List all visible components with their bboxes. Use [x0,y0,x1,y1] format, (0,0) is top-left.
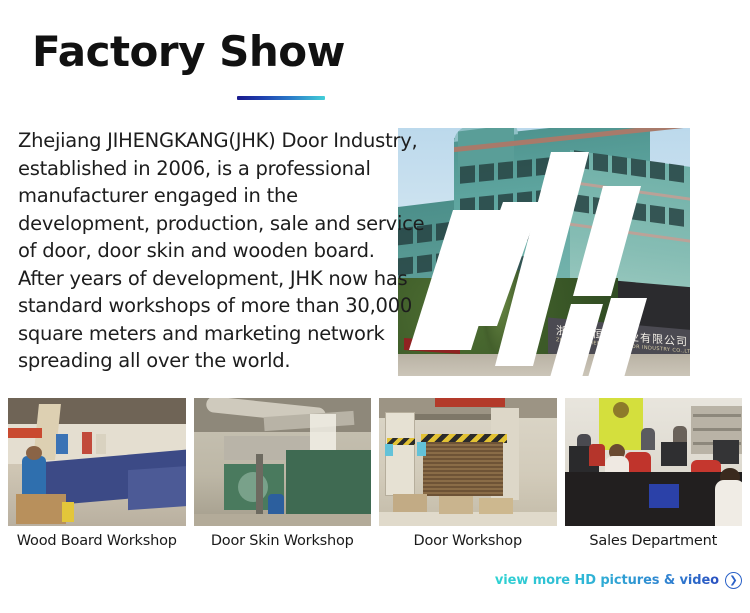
gallery-caption: Sales Department [565,533,743,549]
sales-department-image[interactable] [565,398,743,526]
factory-building-photo: 浙江基恒康门业有限公司 ZHEJIANG JIHENGKANG DOOR IND… [398,128,690,376]
gallery-item[interactable]: Door Skin Workshop [194,398,372,549]
title-underline-rule [237,96,325,100]
gallery-item[interactable]: Wood Board Workshop [8,398,186,549]
gallery-caption: Door Workshop [379,533,557,549]
door-skin-workshop-image[interactable] [194,398,372,526]
gallery-caption: Wood Board Workshop [8,533,186,549]
tree [480,270,522,366]
view-more-link[interactable]: view more HD pictures & video ❯ [495,572,742,589]
company-intro-paragraph: Zhejiang JIHENGKANG(JHK) Door Industry, … [18,127,430,375]
gallery-caption: Door Skin Workshop [194,533,372,549]
gallery-item[interactable]: Door Workshop [379,398,557,549]
view-more-label: view more HD pictures & video [495,573,719,588]
ground-pavement [398,354,690,376]
factory-show-page: Factory Show 浙江基恒康门业有限公司 ZHEJIANG JIHENG… [0,0,750,613]
page-title: Factory Show [32,30,345,74]
workshop-gallery: Wood Board Workshop Door Skin Workshop [8,398,742,549]
door-workshop-image[interactable] [379,398,557,526]
gallery-item[interactable]: Sales Department [565,398,743,549]
wood-board-workshop-image[interactable] [8,398,186,526]
chevron-right-circle-icon[interactable]: ❯ [725,572,742,589]
